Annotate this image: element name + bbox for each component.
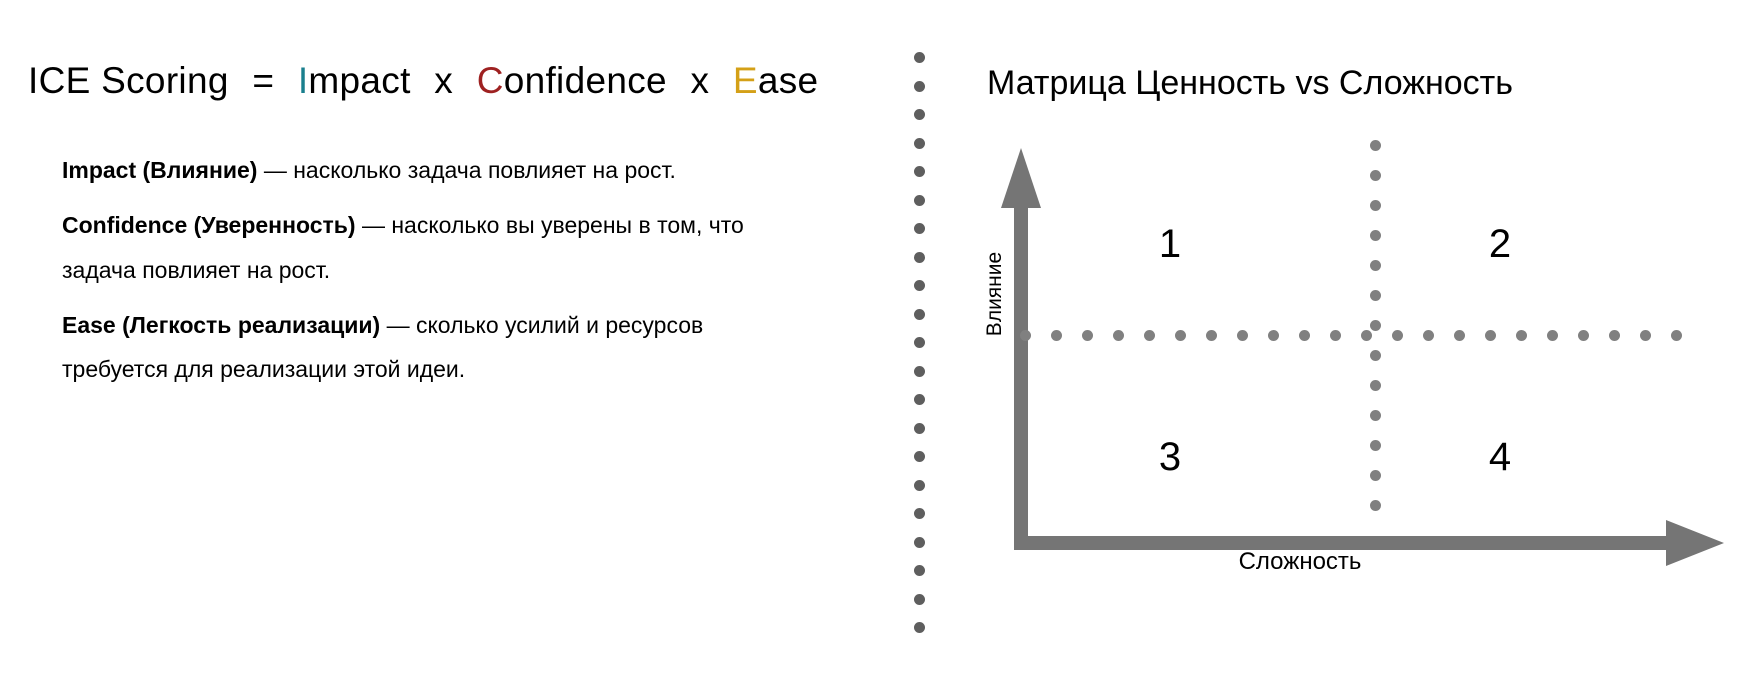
x-axis-label: Сложность: [1100, 548, 1500, 576]
confidence-initial-letter: C: [477, 60, 504, 101]
divider-dot: [914, 508, 925, 519]
quadrant-divider-dot: [1609, 330, 1620, 341]
divider-dot: [914, 594, 925, 605]
quadrant-label-1: 1: [1140, 222, 1200, 267]
divider-dot: [914, 366, 925, 377]
quadrant-divider-dot: [1206, 330, 1217, 341]
formula-times-2: x: [690, 60, 709, 101]
quadrant-divider-dot: [1370, 140, 1381, 151]
quadrant-divider-dot: [1370, 440, 1381, 451]
divider-dot: [914, 394, 925, 405]
definition-list: Impact (Влияние) — насколько задача повл…: [62, 148, 782, 402]
divider-dot: [914, 537, 925, 548]
definition-body: — насколько задача повлияет на рост.: [257, 157, 675, 183]
quadrant-divider-dot: [1051, 330, 1062, 341]
quadrant-divider-dot: [1547, 330, 1558, 341]
quadrant-divider-dot: [1423, 330, 1434, 341]
y-axis-arrow-icon: [1001, 148, 1041, 208]
impact-tail: mpact: [308, 60, 410, 101]
quadrant-divider-dot: [1671, 330, 1682, 341]
formula-confidence: Confidence: [477, 60, 667, 101]
quadrant-divider-dot: [1370, 350, 1381, 361]
quadrant-divider-dot: [1485, 330, 1496, 341]
quadrant-divider-dot: [1370, 500, 1381, 511]
quadrant-divider-dot: [1299, 330, 1310, 341]
quadrant-divider-dot: [1640, 330, 1651, 341]
divider-dot: [914, 81, 925, 92]
quadrant-divider-dot: [1516, 330, 1527, 341]
formula-prefix: ICE Scoring: [28, 60, 229, 101]
ice-scoring-panel: ICE Scoring = Impact x Confidence x Ease…: [0, 0, 880, 677]
horizontal-quadrant-divider: [1020, 330, 1680, 342]
ease-tail: ase: [758, 60, 819, 101]
definition-impact: Impact (Влияние) — насколько задача повл…: [62, 148, 782, 193]
quadrant-divider-dot: [1370, 410, 1381, 421]
divider-dot: [914, 166, 925, 177]
y-axis-label: Влияние: [983, 234, 1007, 354]
quadrant-divider-dot: [1370, 290, 1381, 301]
quadrant-divider-dot: [1370, 470, 1381, 481]
formula-equals: =: [252, 60, 274, 101]
confidence-tail: onfidence: [504, 60, 667, 101]
divider-dot: [914, 138, 925, 149]
quadrant-divider-dot: [1392, 330, 1403, 341]
quadrant-divider-dot: [1361, 330, 1372, 341]
quadrant-divider-dot: [1330, 330, 1341, 341]
definition-ease: Ease (Легкость реализации) — сколько уси…: [62, 303, 782, 393]
divider-dot: [914, 109, 925, 120]
quadrant-divider-dot: [1370, 260, 1381, 271]
quadrant-divider-dot: [1370, 380, 1381, 391]
quadrant-divider-dot: [1454, 330, 1465, 341]
ease-initial-letter: E: [733, 60, 758, 101]
divider-dot: [914, 223, 925, 234]
quadrant-divider-dot: [1237, 330, 1248, 341]
quadrant-label-3: 3: [1140, 435, 1200, 480]
divider-dot: [914, 195, 925, 206]
formula-times-1: x: [434, 60, 453, 101]
divider-dot: [914, 480, 925, 491]
y-axis-line: [1014, 205, 1028, 550]
quadrant-divider-dot: [1144, 330, 1155, 341]
quadrant-divider-dot: [1020, 330, 1031, 341]
quadrant-divider-dot: [1370, 170, 1381, 181]
quadrant-divider-dot: [1370, 200, 1381, 211]
quadrant-divider-dot: [1082, 330, 1093, 341]
divider-dot: [914, 622, 925, 633]
formula-ease: Ease: [733, 60, 819, 101]
definition-term: Ease (Легкость реализации): [62, 312, 380, 338]
divider-dot: [914, 337, 925, 348]
value-vs-complexity-matrix-panel: Матрица Ценность vs Сложность Влияние Сл…: [940, 0, 1740, 677]
quadrant-label-4: 4: [1470, 435, 1530, 480]
divider-dot: [914, 252, 925, 263]
quadrant-label-2: 2: [1470, 222, 1530, 267]
definition-term: Confidence (Уверенность): [62, 212, 356, 238]
definition-confidence: Confidence (Уверенность) — насколько вы …: [62, 203, 782, 293]
quadrant-divider-dot: [1578, 330, 1589, 341]
divider-dot: [914, 280, 925, 291]
formula-impact: Impact: [298, 60, 411, 101]
matrix-title: Матрица Ценность vs Сложность: [940, 64, 1560, 103]
quadrant-divider-dot: [1268, 330, 1279, 341]
quadrant-divider-dot: [1370, 230, 1381, 241]
divider-dot: [914, 309, 925, 320]
impact-initial-letter: I: [298, 60, 309, 101]
x-axis-arrow-icon: [1666, 520, 1724, 566]
divider-dot: [914, 52, 925, 63]
quadrant-divider-dot: [1113, 330, 1124, 341]
divider-dot: [914, 565, 925, 576]
quadrant-divider-dot: [1175, 330, 1186, 341]
ice-formula-heading: ICE Scoring = Impact x Confidence x Ease: [28, 60, 818, 103]
divider-dot: [914, 423, 925, 434]
definition-term: Impact (Влияние): [62, 157, 257, 183]
panel-divider-dots: [914, 52, 926, 628]
divider-dot: [914, 451, 925, 462]
